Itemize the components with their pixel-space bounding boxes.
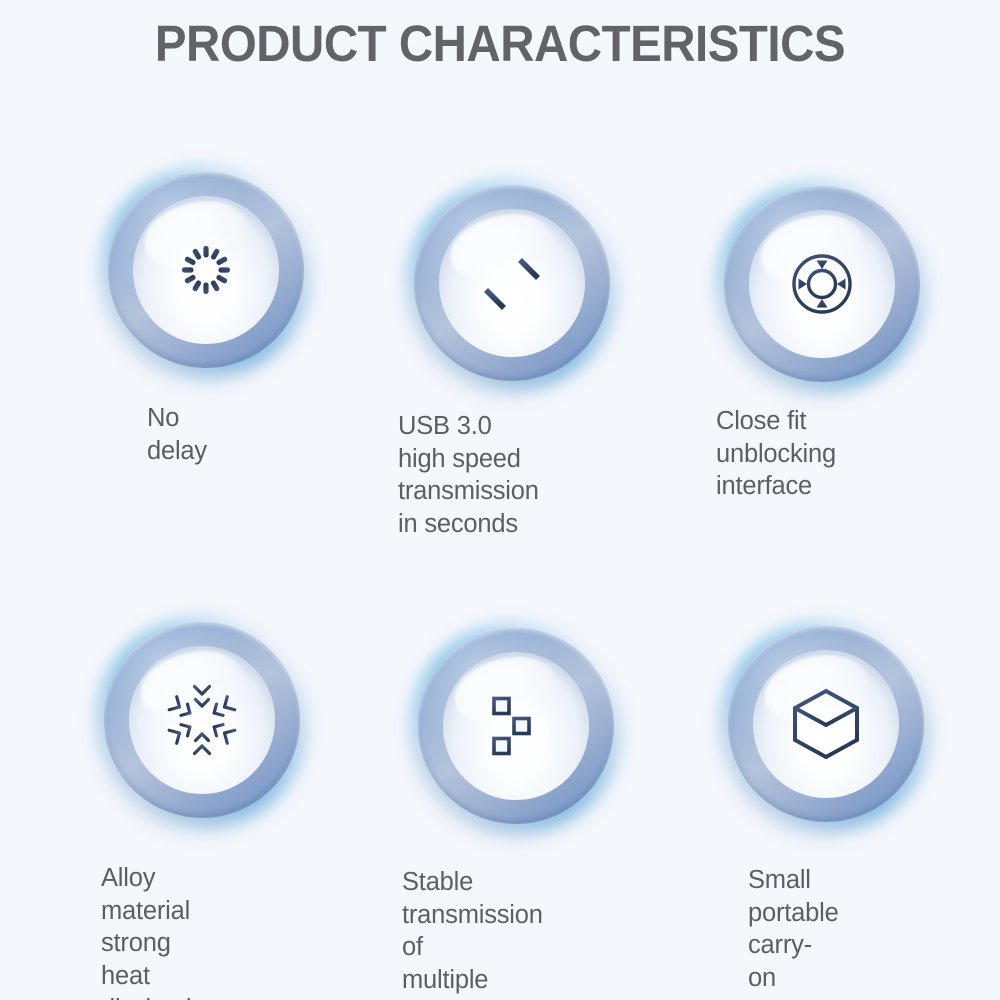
feature-grid: No delay	[0, 0, 1000, 1000]
feature-caption: USB 3.0 high speed transmission in secon…	[398, 410, 539, 541]
snowflake-icon	[129, 646, 275, 794]
orb-inner-disc	[443, 652, 589, 800]
cube-icon	[753, 650, 899, 798]
orb-inner-disc	[129, 646, 275, 794]
orb-inner-disc	[749, 210, 895, 358]
feature-caption: Alloy material strong heat dissipation	[101, 862, 219, 1000]
sliders-icon	[443, 652, 589, 800]
orb-small-portable[interactable]	[728, 626, 924, 822]
orb-inner-disc	[133, 196, 279, 344]
orb-inner-disc	[439, 209, 585, 357]
feature-caption: No delay	[147, 402, 207, 467]
orb-stable-multi-transmission[interactable]	[418, 628, 614, 824]
orb-usb-high-speed[interactable]	[414, 185, 610, 381]
orb-inner-disc	[753, 650, 899, 798]
connector-target-icon	[749, 210, 895, 358]
transfer-arrows-icon	[439, 209, 585, 357]
feature-caption: Close fit unblocking interface	[716, 405, 836, 503]
feature-caption: Stable transmission of multiple simultan…	[402, 866, 550, 1000]
orb-close-fit-interface[interactable]	[724, 186, 920, 382]
orb-alloy-heat-dissipation[interactable]	[104, 622, 300, 818]
feature-caption: Small portable carry-on	[748, 864, 839, 995]
orb-no-delay[interactable]	[108, 172, 304, 368]
loading-spinner-icon	[133, 196, 279, 344]
